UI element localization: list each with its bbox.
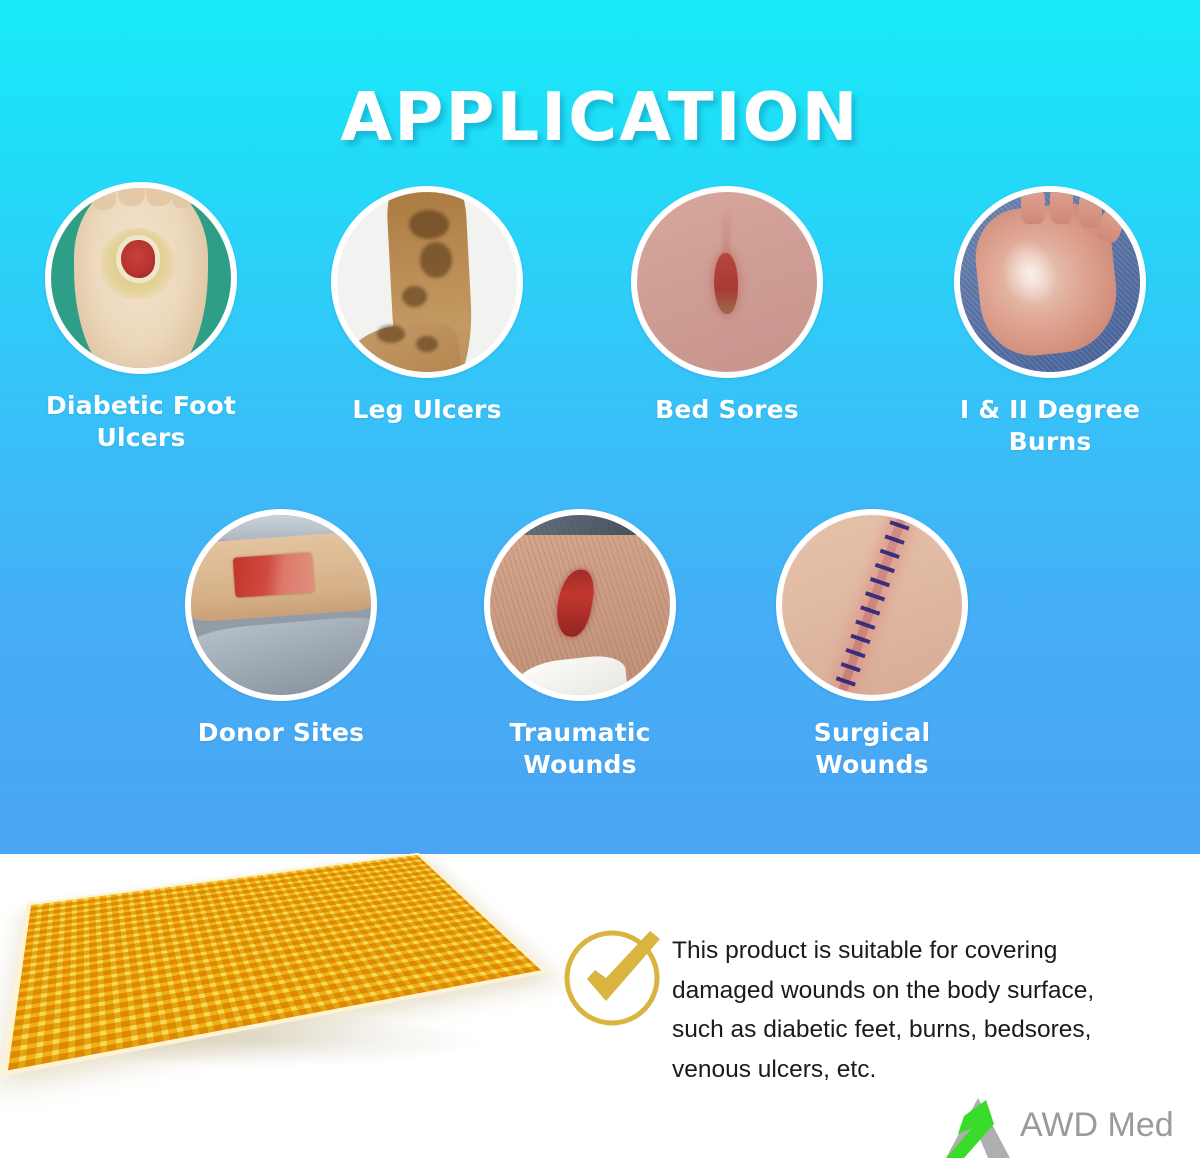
diabetic-foot-ulcer-photo xyxy=(45,182,237,374)
application-item-diabetic-foot-ulcers: Diabetic Foot Ulcers xyxy=(45,182,237,454)
application-item-donor-sites: Donor Sites xyxy=(185,509,377,749)
product-description: This product is suitable for covering da… xyxy=(672,931,1142,1090)
brand-logo: AWD Med xyxy=(938,1094,1178,1160)
brand-name: AWD Med xyxy=(1020,1106,1174,1145)
application-item-label: Surgical Wounds xyxy=(776,717,968,781)
yellow-mesh-wound-dressing-photo xyxy=(0,800,590,1090)
application-item-label: Leg Ulcers xyxy=(331,394,523,426)
application-item-label: Bed Sores xyxy=(631,394,823,426)
check-circle-icon xyxy=(556,916,674,1034)
application-item-leg-ulcers: Leg Ulcers xyxy=(331,186,523,426)
page-title: APPLICATION xyxy=(0,78,1200,156)
application-item-label: Traumatic Wounds xyxy=(484,717,676,781)
application-item-burns: I & II Degree Burns xyxy=(954,186,1146,458)
application-item-label: Diabetic Foot Ulcers xyxy=(45,390,237,454)
surgical-wound-photo xyxy=(776,509,968,701)
application-item-traumatic-wounds: Traumatic Wounds xyxy=(484,509,676,781)
burn-hand-photo xyxy=(954,186,1146,378)
application-item-surgical-wounds: Surgical Wounds xyxy=(776,509,968,781)
awd-med-logo-mark xyxy=(938,1094,1014,1160)
application-item-bed-sores: Bed Sores xyxy=(631,186,823,426)
application-item-label: Donor Sites xyxy=(185,717,377,749)
application-panel: APPLICATION Diabetic Foot Ulcers xyxy=(0,0,1200,854)
traumatic-wound-photo xyxy=(484,509,676,701)
bed-sore-photo xyxy=(631,186,823,378)
donor-site-photo xyxy=(185,509,377,701)
application-item-label: I & II Degree Burns xyxy=(954,394,1146,458)
leg-ulcer-photo xyxy=(331,186,523,378)
